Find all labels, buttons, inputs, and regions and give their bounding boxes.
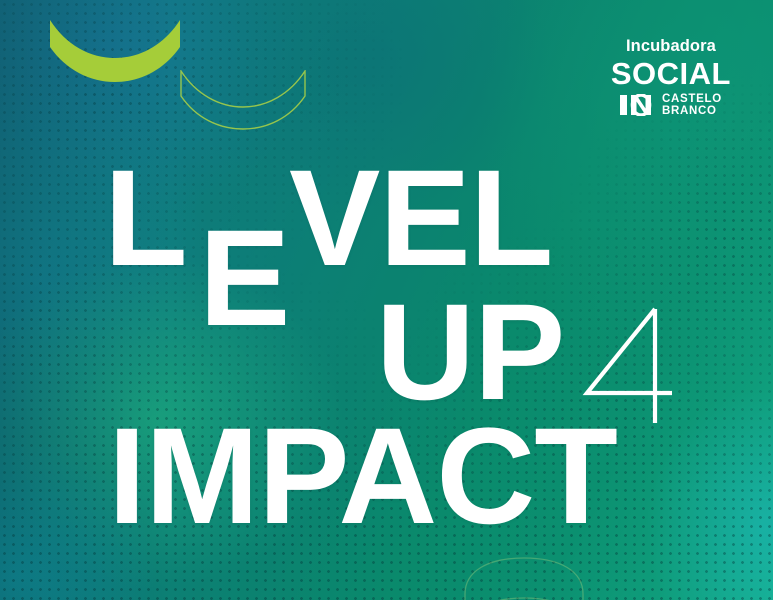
headline-word-up: UP bbox=[376, 300, 564, 407]
headline-letter-l: L bbox=[104, 166, 187, 273]
headline-word-vel: VEL bbox=[289, 166, 552, 273]
headline-letter-e: E bbox=[199, 226, 289, 333]
poster-canvas: Incubadora SOCIAL CASTELO BRANCO L E VEL… bbox=[0, 0, 773, 600]
headline-block: L E VEL UP IMPACT bbox=[0, 0, 773, 600]
headline-word-impact: IMPACT bbox=[108, 424, 617, 531]
